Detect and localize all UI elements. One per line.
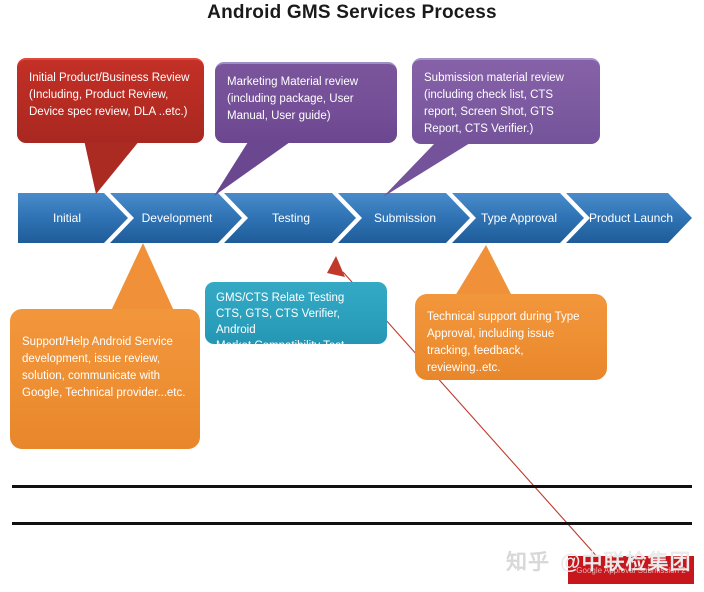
process-step-testing[interactable] bbox=[224, 193, 356, 243]
process-step-product-launch[interactable] bbox=[566, 193, 692, 243]
callout-initial-review[interactable]: Initial Product/Business Review (Includi… bbox=[17, 58, 204, 143]
callout-tail-marketing-review bbox=[214, 142, 290, 196]
callout-support-help[interactable]: Support/Help Android Service development… bbox=[10, 309, 200, 449]
callout-tail-support-help bbox=[111, 243, 174, 311]
process-step-development[interactable] bbox=[110, 193, 242, 243]
callout-tail-submission-review bbox=[383, 143, 470, 197]
diagram-canvas: Android GMS Services Process bbox=[0, 0, 704, 592]
divider-line-top bbox=[12, 485, 692, 488]
process-step-submission[interactable] bbox=[338, 193, 470, 243]
callout-tail-initial-review bbox=[84, 140, 140, 194]
callout-gms-cts-testing[interactable]: GMS/CTS Relate Testing CTS, GTS, CTS Ver… bbox=[205, 282, 387, 344]
callout-submission-review[interactable]: Submission material review (including ch… bbox=[412, 58, 600, 144]
process-step-initial[interactable] bbox=[18, 193, 128, 243]
process-step-type-approval[interactable] bbox=[452, 193, 584, 243]
callout-technical-support[interactable]: Technical support during Type Approval, … bbox=[415, 294, 607, 380]
callout-marketing-review[interactable]: Marketing Material review (including pac… bbox=[215, 62, 397, 143]
divider-line-bottom bbox=[12, 522, 692, 525]
watermark-site: 知乎 bbox=[506, 546, 550, 576]
watermark-handle: @中联检集团 bbox=[560, 546, 691, 576]
callout-tail-technical-support bbox=[455, 245, 512, 296]
